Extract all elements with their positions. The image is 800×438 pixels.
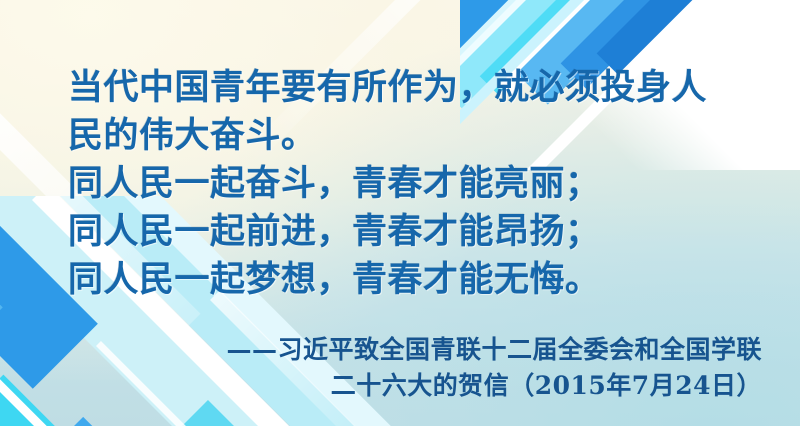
quote-line-1: 当代中国青年要有所作为，就必须投身人 bbox=[68, 64, 768, 112]
quote-line-2: 民的伟大奋斗。 bbox=[68, 112, 768, 160]
quote-block: 当代中国青年要有所作为，就必须投身人 民的伟大奋斗。 同人民一起奋斗，青春才能亮… bbox=[68, 64, 768, 304]
attribution-line-1: ——习近平致全国青联十二届全委会和全国学联 bbox=[226, 332, 762, 368]
poster-canvas: 当代中国青年要有所作为，就必须投身人 民的伟大奋斗。 同人民一起奋斗，青春才能亮… bbox=[0, 0, 800, 438]
bottom-white-strip bbox=[0, 426, 800, 438]
quote-line-4: 同人民一起前进，青春才能昂扬； bbox=[68, 208, 768, 256]
quote-line-5: 同人民一起梦想，青春才能无悔。 bbox=[68, 256, 768, 304]
quote-line-3: 同人民一起奋斗，青春才能亮丽； bbox=[68, 160, 768, 208]
attribution-line-2: 二十六大的贺信（2015年7月24日） bbox=[226, 368, 762, 404]
attribution-block: ——习近平致全国青联十二届全委会和全国学联 二十六大的贺信（2015年7月24日… bbox=[226, 332, 762, 404]
